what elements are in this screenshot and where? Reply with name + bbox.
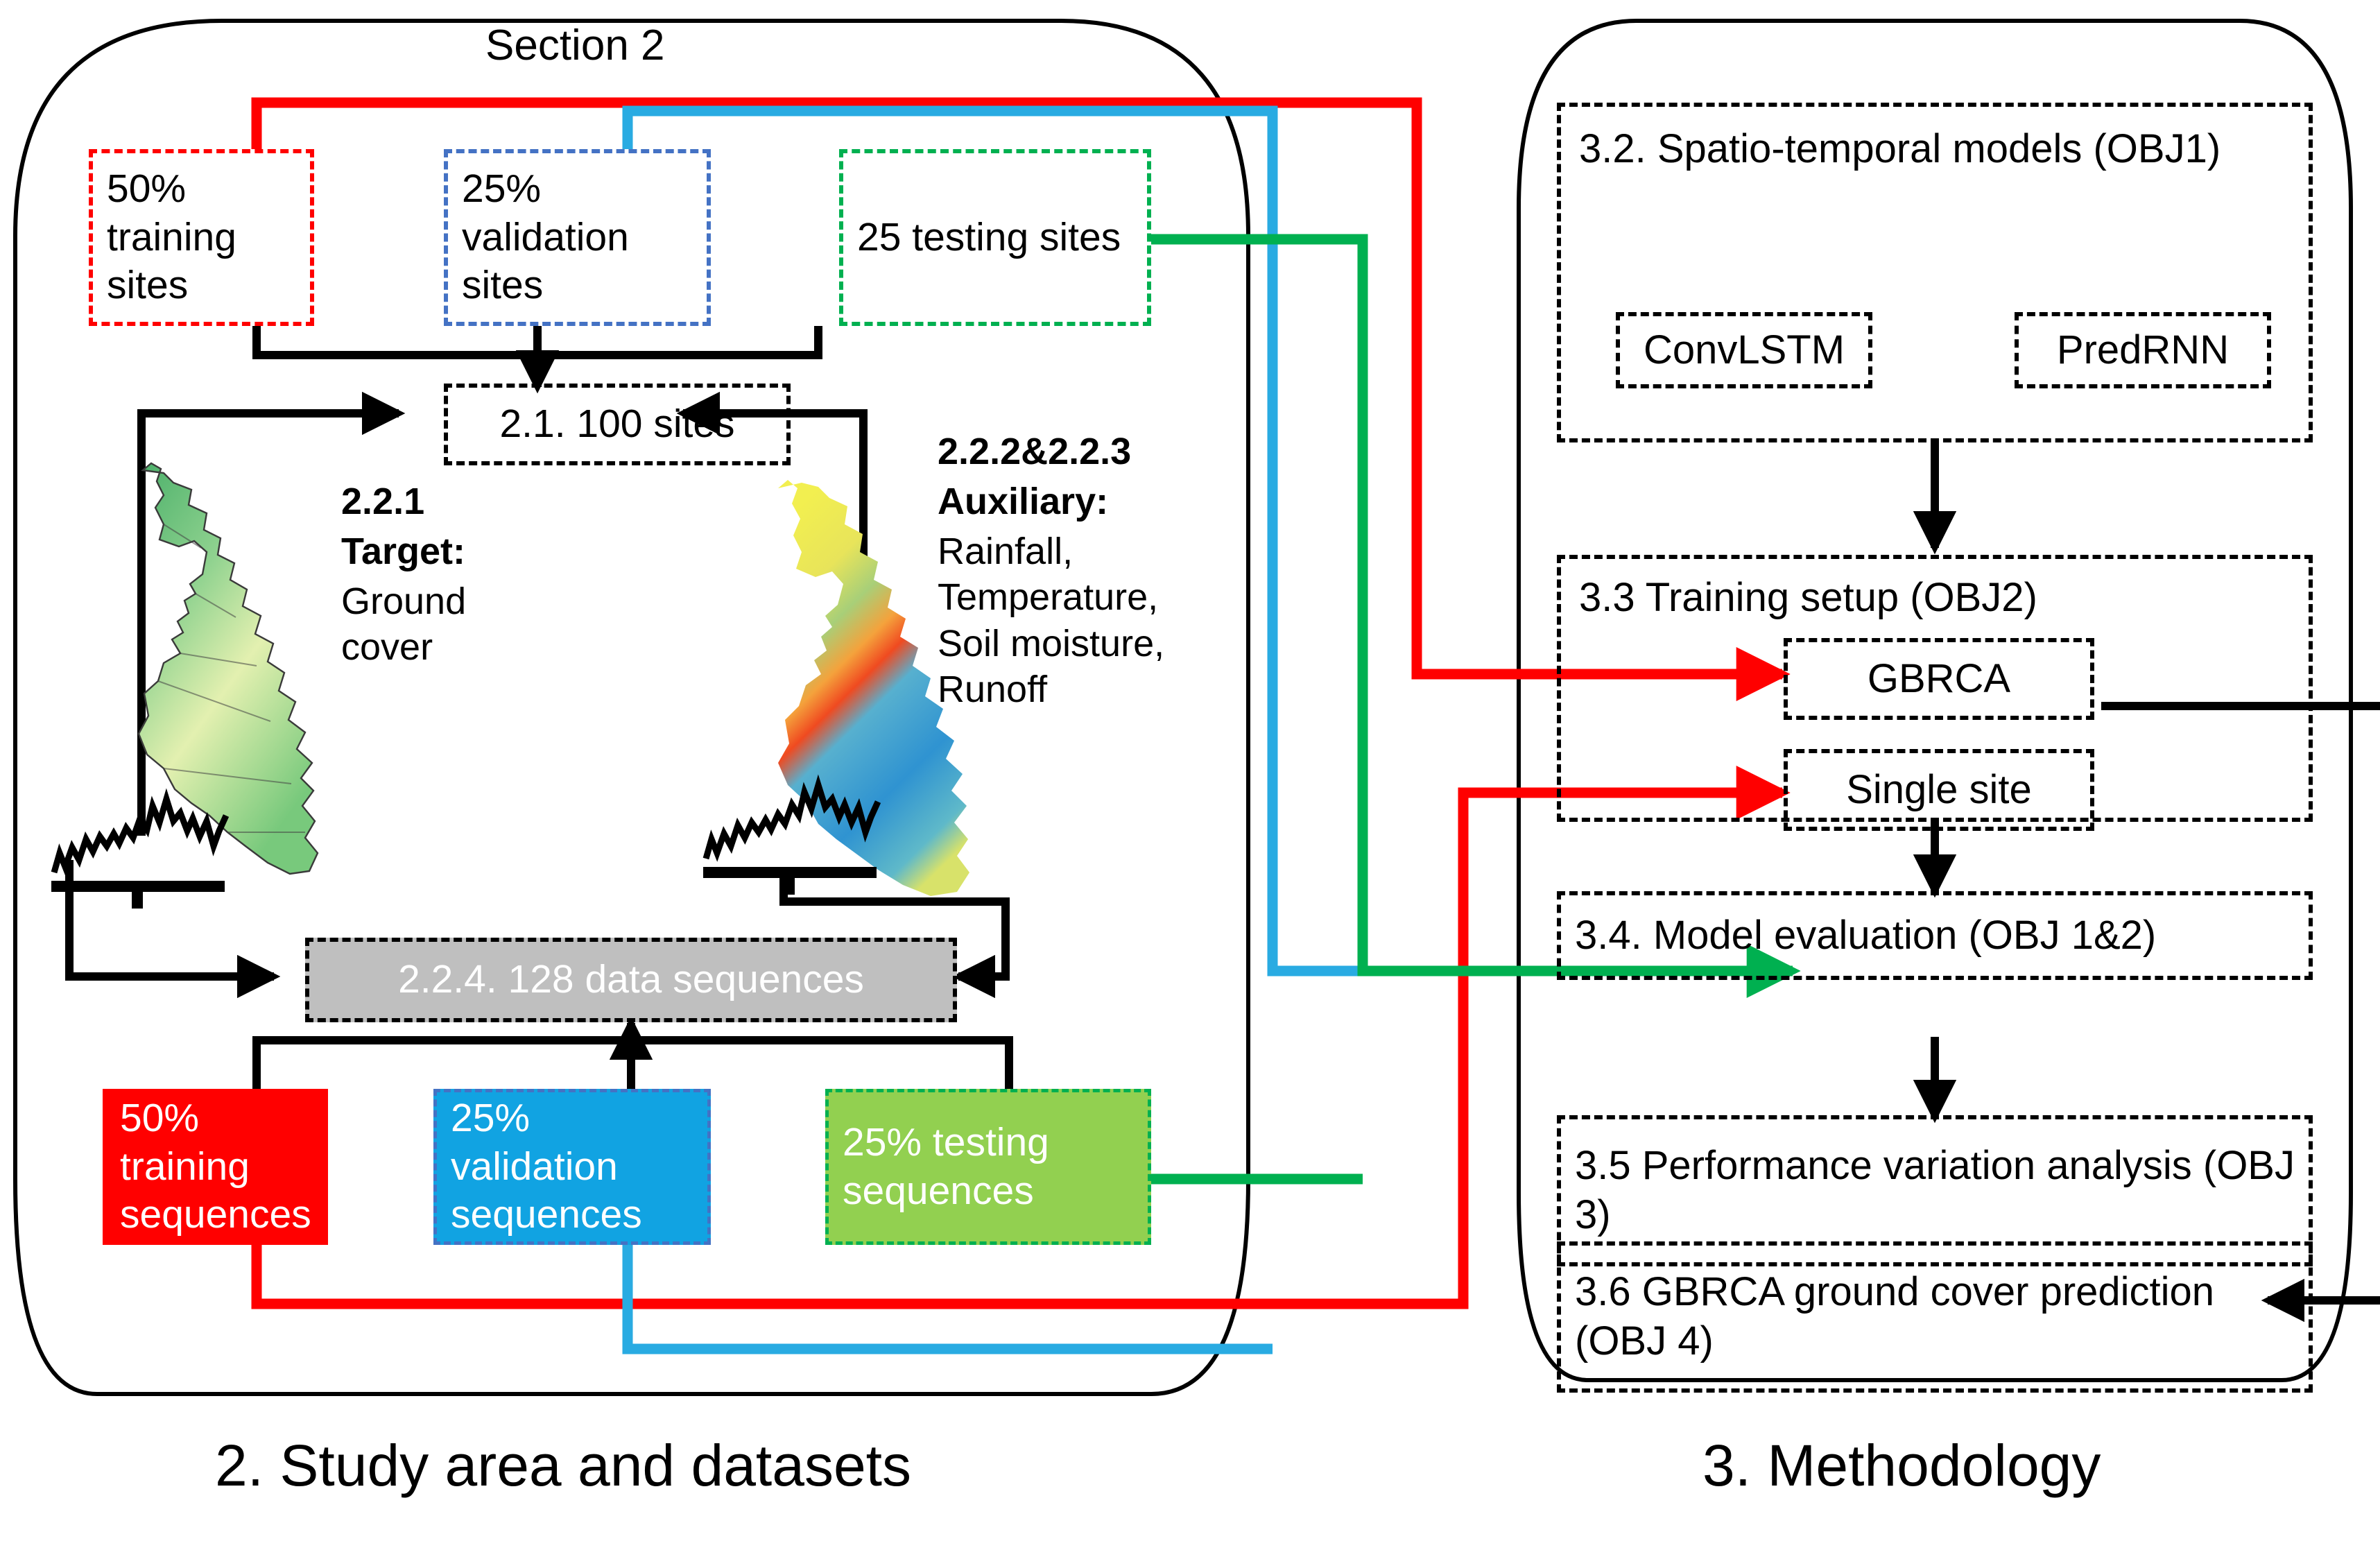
convlstm-box[interactable]: ConvLSTM	[1616, 312, 1872, 388]
sites-merge-connector	[257, 326, 818, 387]
left-panel-title: 2. Study area and datasets	[215, 1432, 911, 1499]
testing-sites-label: 25 testing sites	[857, 214, 1137, 262]
predrnn-box[interactable]: PredRNN	[2015, 312, 2271, 388]
validation-sites-label: 25% validation sites	[462, 165, 697, 310]
convlstm-label: ConvLSTM	[1620, 326, 1868, 375]
right-panel-title: 3. Methodology	[1702, 1432, 2101, 1499]
spatio-temporal-models-heading: 3.2. Spatio-temporal models (OBJ1)	[1579, 125, 2273, 174]
section-label: Section 2	[485, 21, 665, 70]
data-sequences-label: 2.2.4. 128 data sequences	[309, 956, 953, 1004]
training-setup-heading: 3.3 Training setup (OBJ2)	[1579, 574, 2273, 621]
timeseries-signal-icon	[42, 770, 257, 909]
training-sequences-box[interactable]: 50% training sequences	[103, 1089, 328, 1245]
sequence-merge-connector	[257, 1023, 1009, 1089]
performance-variation-label: 3.5 Performance variation analysis (OBJ …	[1575, 1142, 2299, 1240]
sites-count-label: 2.1. 100 sites	[448, 400, 786, 449]
testing-sites-box[interactable]: 25 testing sites	[839, 149, 1151, 326]
timeseries-signal-icon	[693, 756, 908, 895]
gbrca-prediction-block[interactable]: 3.6 GBRCA ground cover prediction (OBJ 4…	[1557, 1241, 2313, 1393]
flowchart-figure: Section 2 50% training sites 25% validat…	[0, 0, 2380, 1566]
spatio-temporal-models-block[interactable]: 3.2. Spatio-temporal models (OBJ1)	[1557, 103, 2313, 442]
gbrca-label: GBRCA	[1788, 655, 2090, 704]
model-evaluation-block[interactable]: 3.4. Model evaluation (OBJ 1&2)	[1557, 891, 2313, 980]
predrnn-label: PredRNN	[2019, 326, 2267, 375]
data-sequences-box[interactable]: 2.2.4. 128 data sequences	[305, 938, 957, 1022]
training-sites-label: 50% training sites	[107, 165, 300, 310]
single-site-label: Single site	[1788, 766, 2090, 815]
model-evaluation-label: 3.4. Model evaluation (OBJ 1&2)	[1575, 911, 2299, 961]
training-sequences-label: 50% training sequences	[120, 1094, 315, 1239]
validation-sites-box[interactable]: 25% validation sites	[444, 149, 711, 326]
auxiliary-number: 2.2.2&2.2.3	[938, 429, 1131, 474]
testing-sequences-label: 25% testing sequences	[843, 1119, 1138, 1215]
single-site-box[interactable]: Single site	[1784, 749, 2094, 831]
testing-sequences-box[interactable]: 25% testing sequences	[825, 1089, 1151, 1245]
gbrca-box[interactable]: GBRCA	[1784, 638, 2094, 720]
validation-sequences-label: 25% validation sequences	[451, 1094, 698, 1239]
sites-count-box[interactable]: 2.1. 100 sites	[444, 384, 791, 465]
gbrca-prediction-label: 3.6 GBRCA ground cover prediction (OBJ 4…	[1575, 1268, 2299, 1366]
validation-sequences-box[interactable]: 25% validation sequences	[433, 1089, 711, 1245]
training-sites-box[interactable]: 50% training sites	[89, 149, 314, 326]
